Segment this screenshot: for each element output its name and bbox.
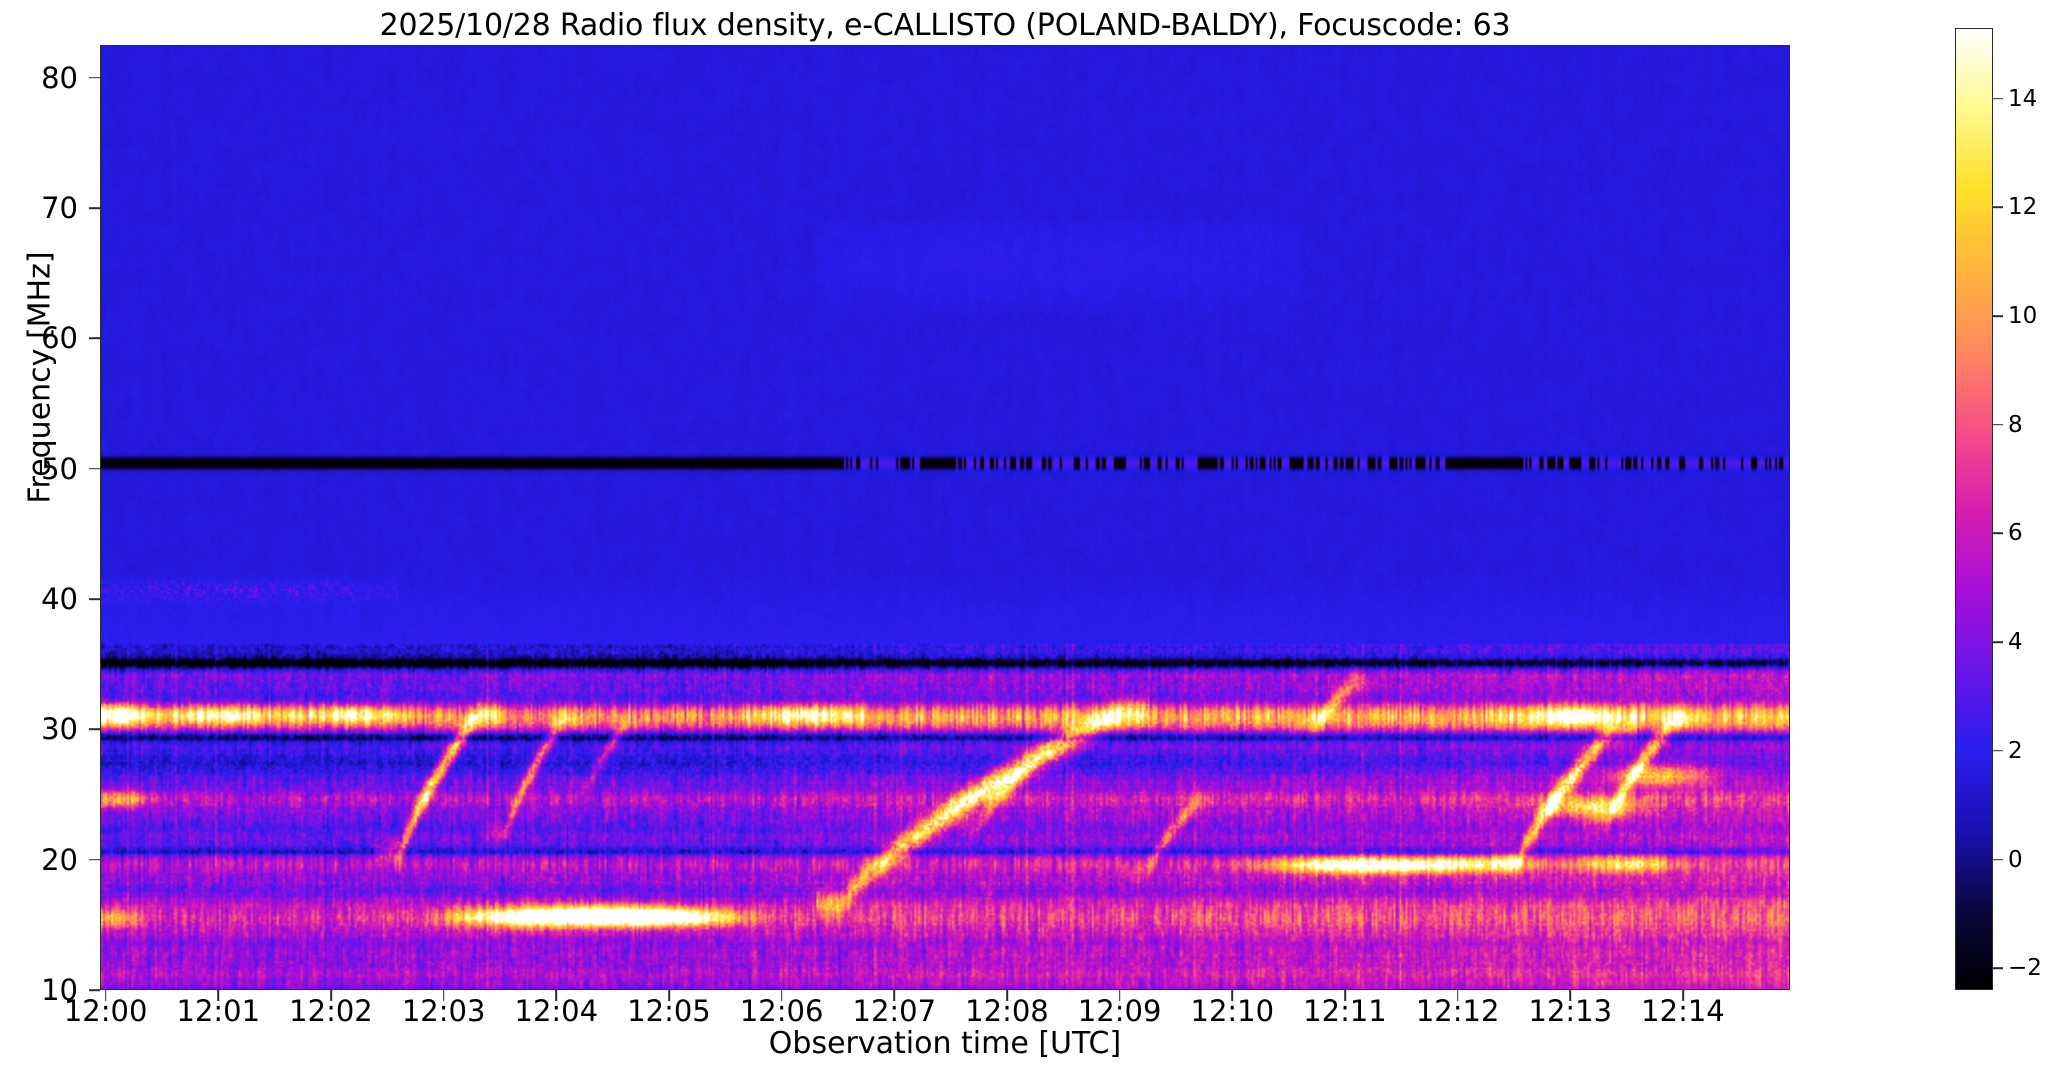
colorbar[interactable] bbox=[1955, 28, 1993, 990]
colorbar-tick-mark bbox=[1993, 98, 2003, 100]
spectrogram-image bbox=[101, 46, 1789, 989]
x-tick-mark bbox=[443, 990, 445, 1001]
x-tick-mark bbox=[556, 990, 558, 1001]
y-tick-mark bbox=[89, 989, 100, 991]
colorbar-tick-label: 12 bbox=[2008, 194, 2037, 220]
colorbar-tick-mark bbox=[1993, 533, 2003, 535]
x-tick-mark bbox=[1570, 990, 1572, 1001]
x-tick-mark bbox=[1119, 990, 1121, 1001]
colorbar-tick-label: 6 bbox=[2008, 520, 2023, 546]
colorbar-tick-mark bbox=[1993, 967, 2003, 969]
colorbar-tick-mark bbox=[1993, 424, 2003, 426]
x-tick-mark bbox=[105, 990, 107, 1001]
colorbar-tick-label: 4 bbox=[2008, 629, 2023, 655]
x-tick-mark bbox=[1457, 990, 1459, 1001]
colorbar-tick-mark bbox=[1993, 207, 2003, 209]
y-axis-label: Frequency [MHz] bbox=[23, 168, 58, 588]
y-tick-mark bbox=[89, 859, 100, 861]
colorbar-tick-mark bbox=[1993, 750, 2003, 752]
x-tick-mark bbox=[330, 990, 332, 1001]
x-tick-mark bbox=[894, 990, 896, 1001]
spectrogram-figure: 2025/10/28 Radio flux density, e-CALLIST… bbox=[0, 0, 2047, 1067]
y-tick-mark bbox=[89, 207, 100, 209]
x-tick-mark bbox=[1682, 990, 1684, 1001]
colorbar-tick-labels: −202468101214 bbox=[1993, 28, 2047, 990]
spectrogram-plot-area[interactable] bbox=[100, 45, 1790, 990]
colorbar-tick-mark bbox=[1993, 859, 2003, 861]
y-tick-mark bbox=[89, 598, 100, 600]
colorbar-tick-label: 0 bbox=[2008, 847, 2023, 873]
colorbar-tick-label: −2 bbox=[2008, 955, 2042, 981]
y-tick-mark bbox=[89, 77, 100, 79]
spectrogram-canvas bbox=[101, 46, 1789, 989]
colorbar-tick-label: 8 bbox=[2008, 412, 2023, 438]
y-tick-mark bbox=[89, 468, 100, 470]
y-tick-mark bbox=[89, 729, 100, 731]
x-tick-mark bbox=[1232, 990, 1234, 1001]
x-tick-mark bbox=[1344, 990, 1346, 1001]
colorbar-tick-mark bbox=[1993, 315, 2003, 317]
colorbar-tick-label: 14 bbox=[2008, 86, 2037, 112]
x-tick-mark bbox=[781, 990, 783, 1001]
x-axis-label: Observation time [UTC] bbox=[100, 1026, 1790, 1061]
colorbar-gradient bbox=[1956, 29, 1992, 989]
colorbar-tick-label: 10 bbox=[2008, 303, 2037, 329]
y-tick-mark bbox=[89, 337, 100, 339]
page-title: 2025/10/28 Radio flux density, e-CALLIST… bbox=[100, 8, 1790, 43]
x-tick-mark bbox=[218, 990, 220, 1001]
colorbar-tick-mark bbox=[1993, 641, 2003, 643]
x-tick-mark bbox=[1006, 990, 1008, 1001]
colorbar-tick-label: 2 bbox=[2008, 738, 2023, 764]
x-tick-mark bbox=[668, 990, 670, 1001]
x-axis-tick-marks bbox=[100, 990, 1790, 1002]
